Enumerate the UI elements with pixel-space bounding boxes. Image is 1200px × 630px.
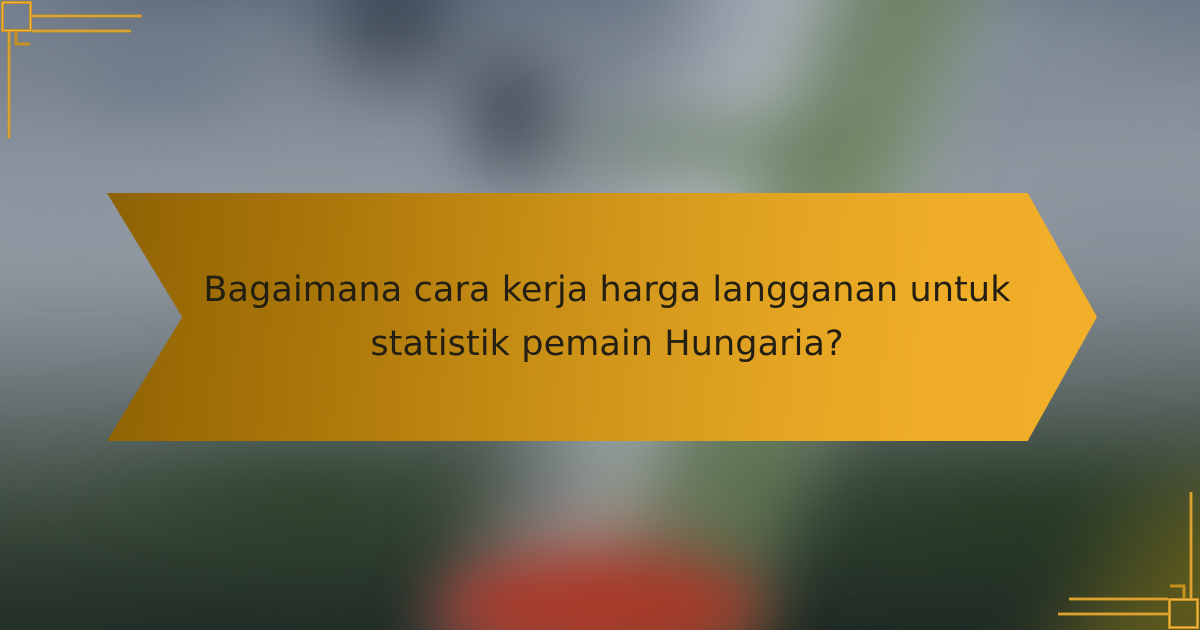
headline-line-2: statistik pemain Hungaria? bbox=[370, 317, 843, 371]
headline-text-block: Bagaimana cara kerja harga langganan unt… bbox=[107, 193, 1097, 441]
headline-line-1: Bagaimana cara kerja harga langganan unt… bbox=[203, 263, 1010, 317]
headline-ribbon: Bagaimana cara kerja harga langganan unt… bbox=[107, 193, 1097, 441]
banner-card: Bagaimana cara kerja harga langganan unt… bbox=[0, 0, 1200, 630]
